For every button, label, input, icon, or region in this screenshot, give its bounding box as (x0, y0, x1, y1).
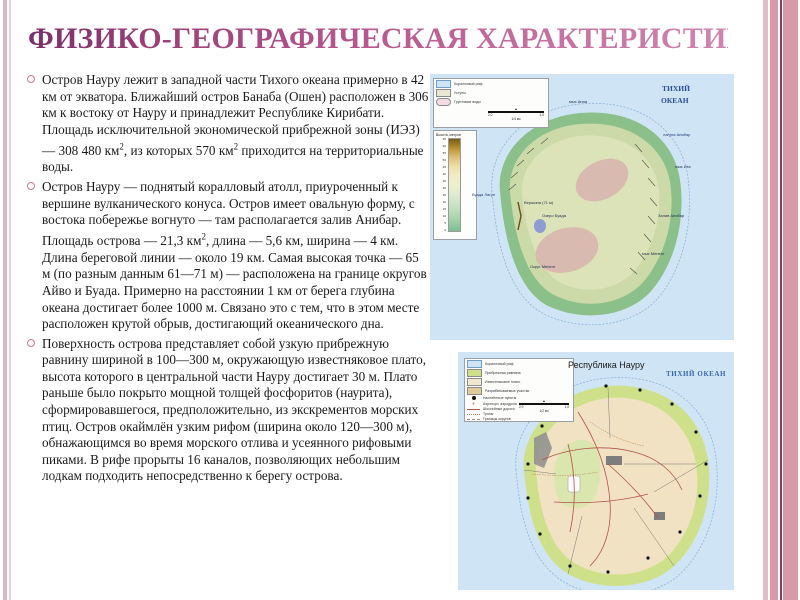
border-stripe-left-outer (3, 0, 7, 600)
slide-body-text: Остров Науру лежит в западной части Тихо… (26, 72, 430, 590)
bullet-text: Остров Науру — поднятый коралловый атолл… (42, 179, 427, 331)
elevation-tick: 45 (437, 166, 446, 169)
map-label-anibar-bay: Залив Анибар (658, 213, 684, 218)
scale-label-left: 2,0 (488, 113, 492, 117)
elevation-legend-title: Высота, метров (436, 133, 476, 137)
legend-row: Грунтовые воды (436, 98, 548, 106)
border-stripe-right-4 (783, 0, 798, 600)
elevation-tick: 35 (437, 180, 446, 183)
legend-row: Разрабатываемые участки (467, 387, 573, 395)
map-label-buada-lagoon: Буада Лагун (472, 192, 495, 197)
legend-swatch-coastal-plain (467, 369, 482, 377)
slide-border-left (0, 0, 14, 600)
legend-label: Грунтовые воды (454, 100, 481, 104)
border-stripe-right-2 (770, 0, 778, 600)
airport-apron (606, 456, 622, 465)
legend-row: Границы округов (467, 417, 573, 421)
physical-map-legend: Коралловый риф Уступы Грунтовые воды ▲ 2… (433, 78, 549, 128)
legend-swatch-groundwater (436, 98, 451, 106)
elevation-legend: Высота, метров 6560555045403530252015105… (433, 130, 477, 240)
map-label-cape-meneng: мыс Мененг (642, 251, 664, 256)
slide-border-right (754, 0, 800, 600)
bullet-item: Поверхность острова представляет собой у… (26, 336, 430, 485)
bullet-item: Остров Науру — поднятый коралловый атолл… (26, 179, 430, 333)
physical-map-scale-bar: ▲ 2,0 1,0 1/4 км (488, 107, 544, 121)
elevation-color-ramp (448, 138, 461, 232)
bullet-marker-icon (27, 339, 35, 347)
legend-label: Аэропорт, аэродром (483, 402, 517, 406)
legend-swatch-airport-icon: ✈ (467, 401, 480, 406)
legend-row: Прибрежная равнина (467, 369, 573, 377)
legend-row: Известняковое плато (467, 378, 573, 386)
map-label-pacific-ocean-line2: ОКЕАН (661, 96, 689, 105)
legend-label: Уступы (454, 91, 466, 95)
border-stripe-left-inner (9, 0, 11, 600)
elevation-tick: 55 (437, 152, 446, 155)
legend-label: Границы округов (483, 417, 511, 421)
bullet-marker-icon (27, 75, 35, 83)
legend-swatch-coral-reef (436, 80, 451, 88)
physical-map-image: Коралловый риф Уступы Грунтовые воды ▲ 2… (430, 74, 734, 340)
legend-label: Разрабатываемые участки (485, 389, 529, 393)
bullet-text: Поверхность острова представляет собой у… (42, 336, 426, 484)
bullet-text: Остров Науру лежит в западной части Тихо… (42, 72, 428, 174)
legend-swatch-escarpment (436, 89, 451, 97)
legend-label: Населённые пункты (483, 396, 516, 400)
map-label-cape-ita: мыс Ита (675, 164, 691, 169)
border-stripe-right-1 (763, 0, 768, 600)
industrial-area (654, 512, 665, 520)
map-label-lake-buada: Озеро Буада (542, 213, 566, 218)
elevation-tick-labels: 65605550454035302520151050 (437, 138, 446, 232)
legend-label: Тропы (483, 412, 493, 416)
legend-row: Коралловый риф (467, 360, 573, 368)
legend-label: Шоссейные дороги (483, 407, 515, 411)
scale-label-right: 1,0 (565, 405, 569, 409)
map-label-cape-anna: мыс Анна (569, 99, 587, 104)
slide-title: ФИЗИКО-ГЕОГРАФИЧЕСКАЯ ХАРАКТЕРИСТИКА (28, 22, 728, 60)
elevation-tick: 65 (437, 138, 446, 141)
map-label-pacific-ocean: ТИХИЙ ОКЕАН (666, 370, 726, 378)
map-label-summit: Вершина (71 м) (524, 200, 553, 205)
political-map-legend: Коралловый риф Прибрежная равнина Извест… (464, 358, 574, 422)
scale-label-left: 2,0 (519, 405, 523, 409)
elevation-tick: 40 (437, 173, 446, 176)
buada-lagoon (534, 219, 546, 233)
scale-label-right: 1,0 (540, 113, 544, 117)
elevation-legend-body: 65605550454035302520151050 (434, 138, 476, 234)
elevation-tick: 15 (437, 208, 446, 211)
legend-row: Коралловый риф (436, 80, 548, 88)
political-map-scale-bar: ▲ 2,0 1,0 1/2 км (519, 399, 569, 413)
legend-swatch-coral-reef (467, 360, 482, 368)
elevation-tick: 10 (437, 215, 446, 218)
legend-swatch-district-border (467, 419, 480, 420)
legend-row: Уступы (436, 89, 548, 97)
elevation-tick: 5 (437, 222, 446, 225)
legend-swatch-settlement (467, 396, 480, 400)
elevation-tick: 50 (437, 159, 446, 162)
elevation-tick: 0 (437, 229, 446, 232)
legend-label: Прибрежная равнина (485, 371, 521, 375)
legend-swatch-trail (467, 414, 480, 415)
elevation-tick: 25 (437, 194, 446, 197)
political-map-title: Республика Науру (568, 360, 644, 370)
map-label-pacific-ocean-line1: ТИХИЙ (662, 84, 690, 93)
legend-label: Коралловый риф (454, 82, 483, 86)
elevation-tick: 60 (437, 145, 446, 148)
legend-label: Коралловый риф (485, 362, 514, 366)
scale-unit: 1/2 км (519, 409, 569, 413)
bullet-item: Остров Науру лежит в западной части Тихо… (26, 72, 430, 176)
elevation-tick: 30 (437, 187, 446, 190)
map-label-meneng-district: Округ Мененг (530, 264, 555, 269)
scale-unit: 1/4 км (488, 117, 544, 121)
map-label-anibar-lagoon: лагуна Анибар (663, 132, 690, 137)
legend-swatch-highway (467, 409, 480, 410)
legend-swatch-limestone-plateau (467, 378, 482, 386)
bullet-marker-icon (27, 182, 35, 190)
legend-swatch-mining-area (467, 387, 482, 395)
political-map-image: Коралловый риф Прибрежная равнина Извест… (458, 352, 734, 590)
border-stripe-right-3 (780, 0, 782, 600)
elevation-tick: 20 (437, 201, 446, 204)
legend-label: Известняковое плато (485, 380, 520, 384)
